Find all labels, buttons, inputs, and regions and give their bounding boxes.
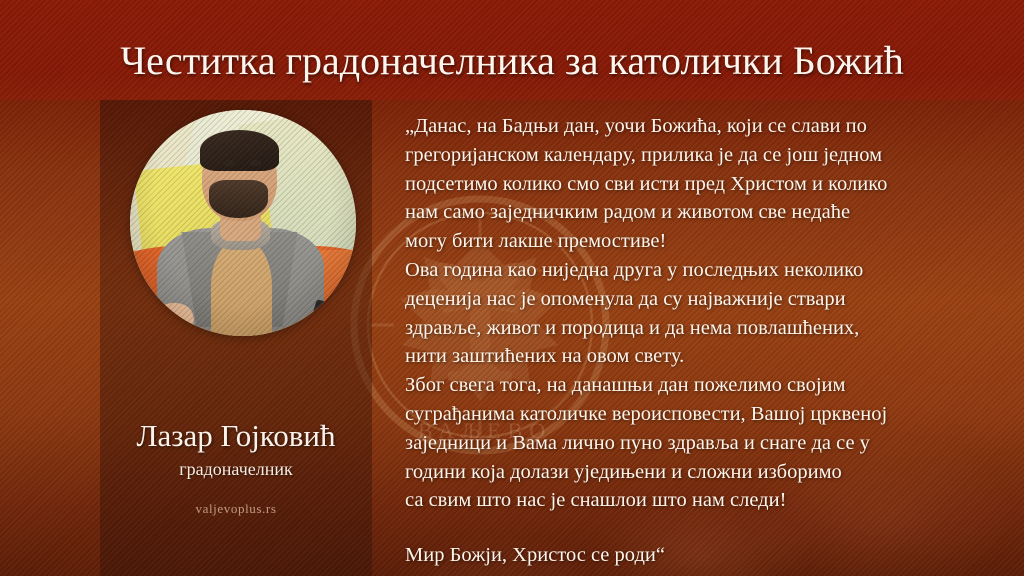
message-line: подсетимо колико смо сви исти пред Христ… (405, 170, 965, 199)
message-line: могу бити лакше премостиве! (405, 227, 965, 256)
portrait-photo (130, 110, 356, 336)
greeting-card: ВАЉЕВО Честитка градоначелника за католи… (0, 0, 1024, 576)
message-line: Због свега тога, на данашњи дан пожелимо… (405, 371, 965, 400)
message-body: „Данас, на Бадњи дан, уочи Божића, који … (405, 112, 965, 570)
message-line: са свим што нас је снашлои што нам следи… (405, 486, 965, 515)
message-line: суграђанима католичке вероисповести, Ваш… (405, 400, 965, 429)
message-line: години која долази уједињени и сложни из… (405, 458, 965, 487)
avatar (130, 110, 356, 336)
message-line: „Данас, на Бадњи дан, уочи Божића, који … (405, 112, 965, 141)
site-watermark: valjevoplus.rs (100, 501, 372, 517)
message-line: нам само заједничким радом и животом све… (405, 198, 965, 227)
message-line: Ова година као ниједна друга у последњих… (405, 256, 965, 285)
message-line: деценија нас је опоменула да су најважни… (405, 285, 965, 314)
person-role: градоначелник (100, 458, 372, 480)
message-closing: Мир Божји, Христос се роди“ (405, 541, 965, 570)
message-line: нити заштићених на овом свету. (405, 342, 965, 371)
person-name: Лазар Гојковић (100, 418, 372, 454)
page-title: Честитка градоначелника за католички Бож… (0, 38, 1024, 84)
message-line: заједници и Вама лично пуно здравља и сн… (405, 429, 965, 458)
message-line: здравље, живот и породица и да нема повл… (405, 314, 965, 343)
message-line: грегоријанском календару, прилика је да … (405, 141, 965, 170)
